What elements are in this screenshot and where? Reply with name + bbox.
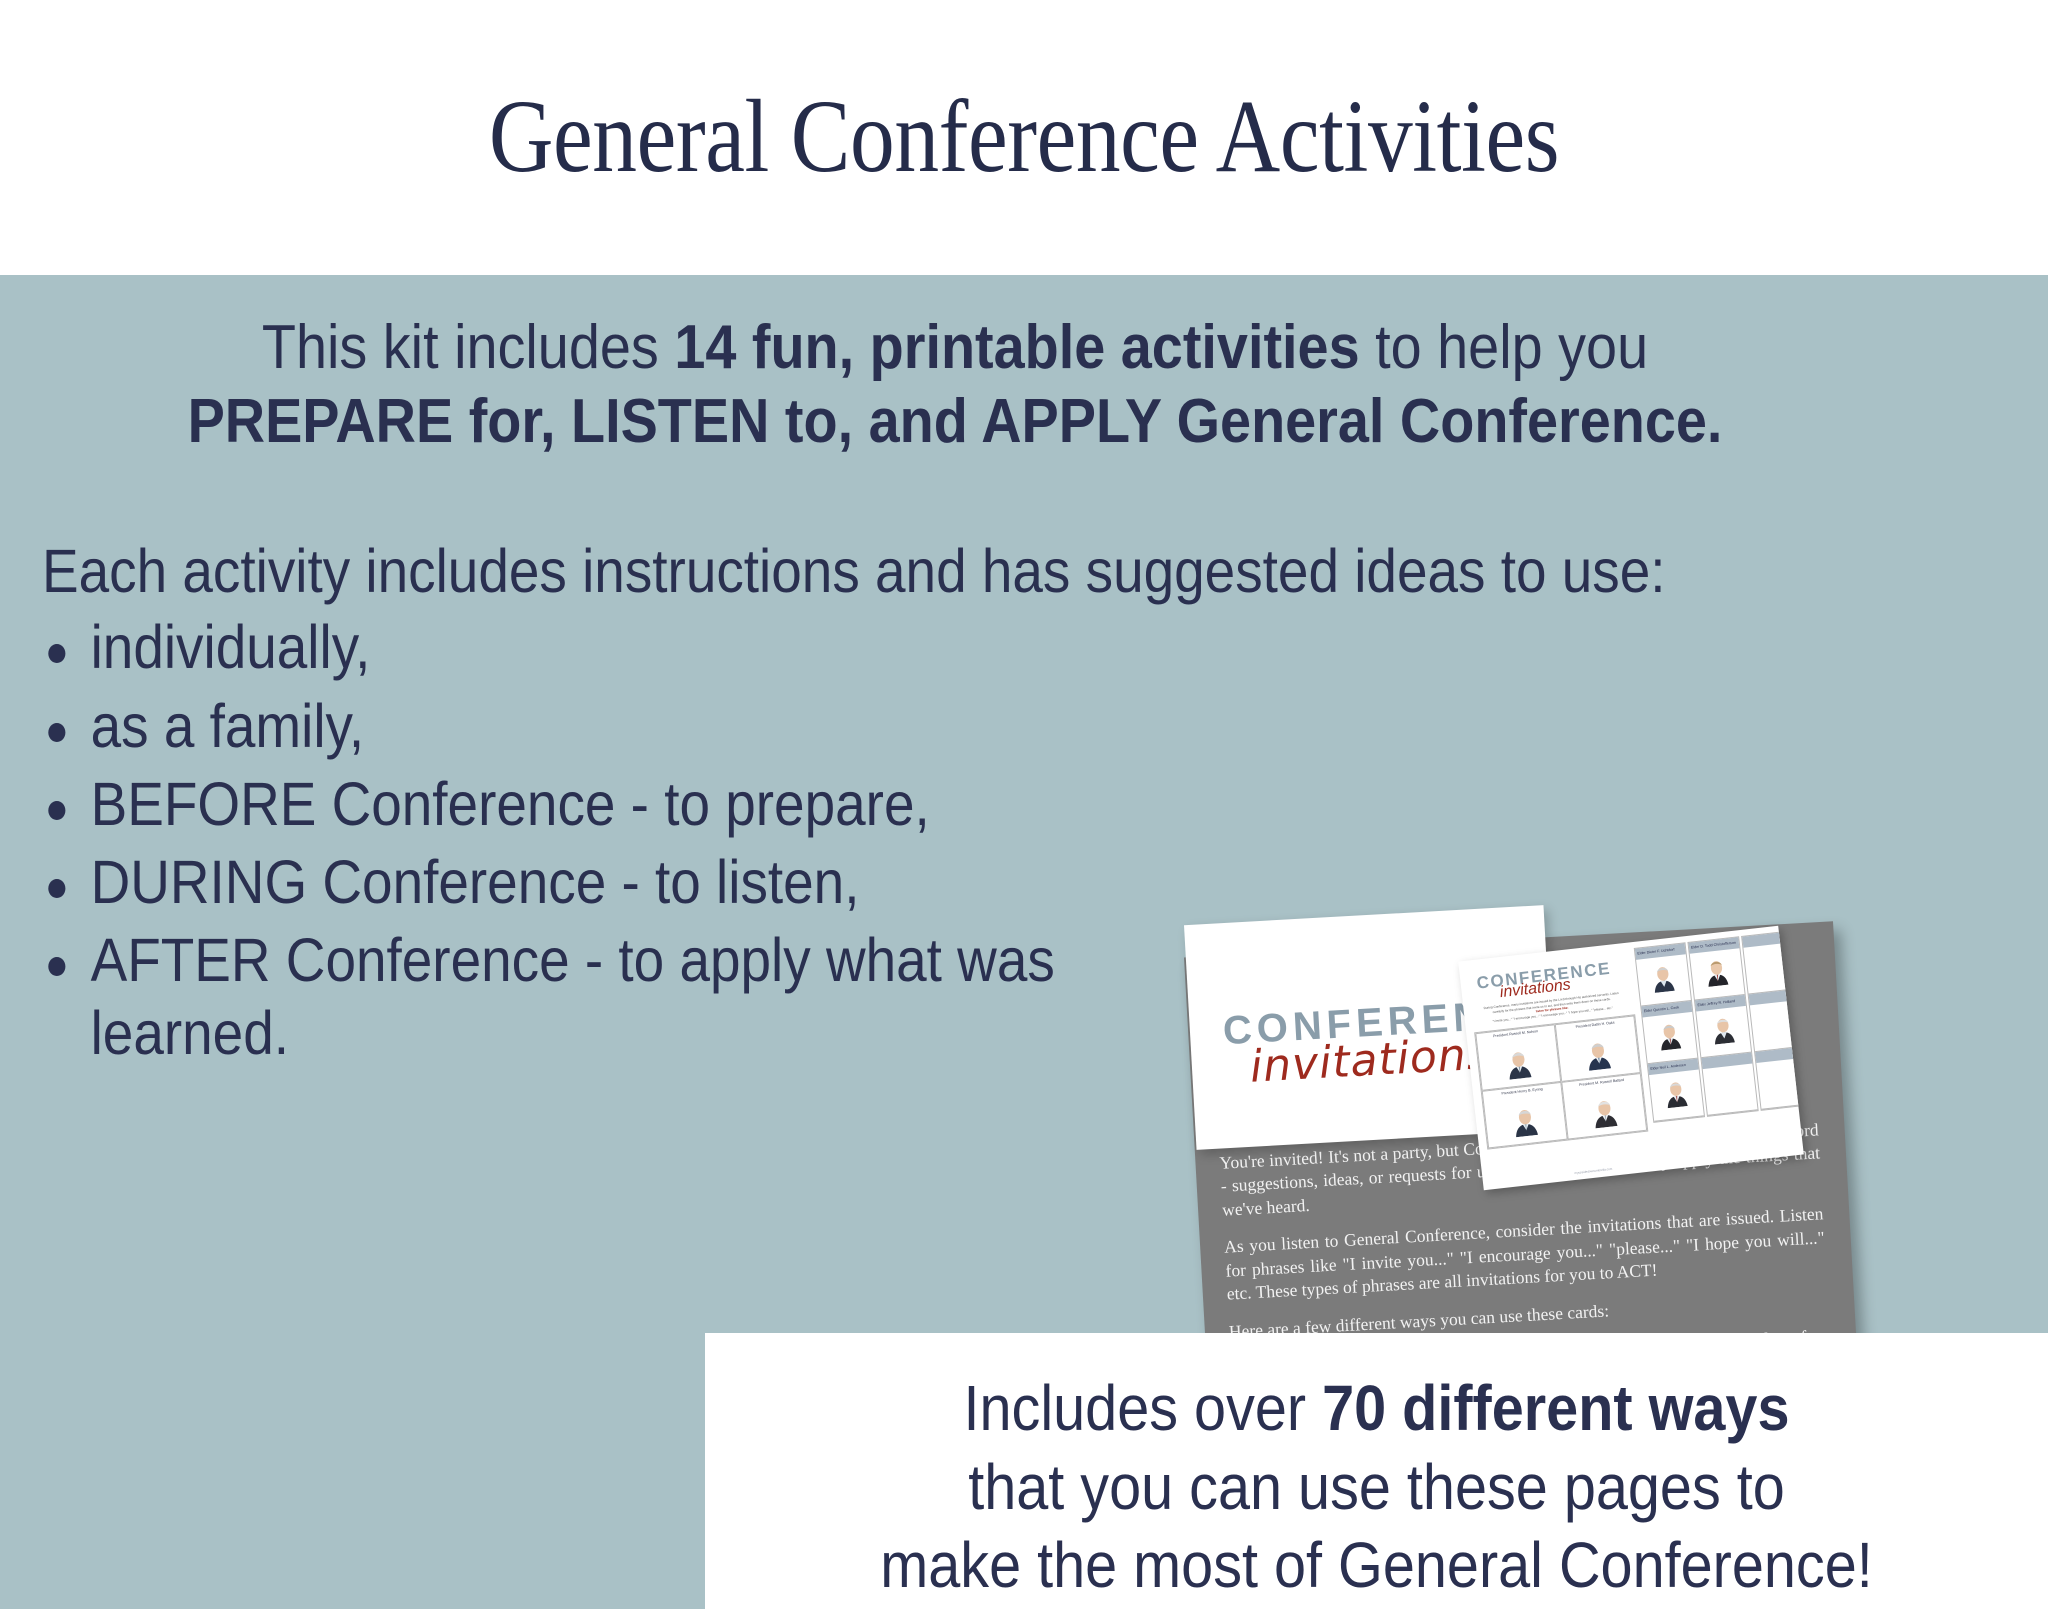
mockup-card: President Dallin H. Oaks [1555,1015,1641,1082]
mockup-card-name: President Dallin H. Oaks [1556,1018,1634,1031]
mockup-strip-label: Elder D. Todd Christofferson [1689,937,1740,954]
intro-line2-bold: PREPARE for, LISTEN to, and APPLY Genera… [150,385,1761,459]
mockup-strip-cell: Elder Dieter F. Uchtdorf [1635,943,1691,1006]
body-background: This kit includes 14 fun, printable acti… [0,275,2048,1609]
mockup-paragraph: As you listen to General Conference, con… [1224,1203,1827,1307]
slide-canvas: General Conference Activities This kit i… [0,0,2048,1609]
mockup-card: President M. Russell Ballard [1561,1073,1647,1140]
mockup-strip-cell: Elder Neil L. Andersen [1648,1059,1704,1122]
callout-text: Includes over 70 different ways that you… [772,1369,1981,1605]
bullet-list: individually, as a family, BEFORE Confer… [42,611,1104,1069]
intro-line1-pre: This kit includes [262,313,674,382]
mockup-strip-cell: Elder Quentin L. Cook [1641,1001,1697,1064]
callout-line1-bold: 70 different ways [1322,1372,1789,1444]
portrait-icon [1656,1018,1683,1050]
mockup-card: President Russell M. Nelson [1475,1024,1561,1091]
portrait-icon [1511,1103,1540,1138]
mockup-strip-cell: Elder Jeffrey R. Holland [1695,995,1751,1058]
mockup-card-name: President Russell M. Nelson [1477,1027,1555,1040]
intro-line1-bold: 14 fun, printable activities [674,313,1359,382]
callout-line1-pre: Includes over [964,1372,1323,1444]
portrait-icon [1590,1094,1619,1129]
portrait-icon [1703,955,1730,987]
portrait-icon [1650,961,1677,993]
intro-paragraph: This kit includes 14 fun, printable acti… [150,311,1761,459]
list-item: individually, [42,611,1104,683]
callout-box: Includes over 70 different ways that you… [705,1333,2048,1609]
list-item: BEFORE Conference - to prepare, [42,768,1104,840]
portrait-icon [1504,1045,1533,1080]
list-item: DURING Conference - to listen, [42,846,1104,918]
page-title: General Conference Activities [143,82,1904,191]
mockup-strip-cell [1701,1053,1757,1116]
list-item: as a family, [42,690,1104,762]
mockup-printable-page: CONFERENCE invitations During Conference… [1458,926,1804,1190]
callout-line3: make the most of General Conference! [880,1529,1873,1601]
portrait-icon [1662,1076,1689,1108]
portrait-icon [1710,1012,1737,1044]
mockup-strip-cell: Elder D. Todd Christofferson [1689,937,1745,1000]
bullets-block: Each activity includes instructions and … [42,535,1104,1075]
list-item: AFTER Conference - to apply what was lea… [42,924,1104,1069]
bullets-lead-text: Each activity includes instructions and … [42,535,1104,607]
portrait-icon [1584,1036,1613,1071]
mockup-strip-label: Elder Dieter F. Uchtdorf [1635,943,1686,960]
header-band: General Conference Activities [0,0,2048,275]
mockup-card-grid: President Russell M. Nelson President Da… [1474,1014,1648,1149]
mockup-grid-url: myupsidedownumbrella.com [1574,1167,1612,1175]
intro-line1-post: to help you [1360,313,1649,382]
callout-line2: that you can use these pages to [968,1451,1785,1523]
mockup-card: President Henry B. Eyring [1482,1082,1568,1149]
